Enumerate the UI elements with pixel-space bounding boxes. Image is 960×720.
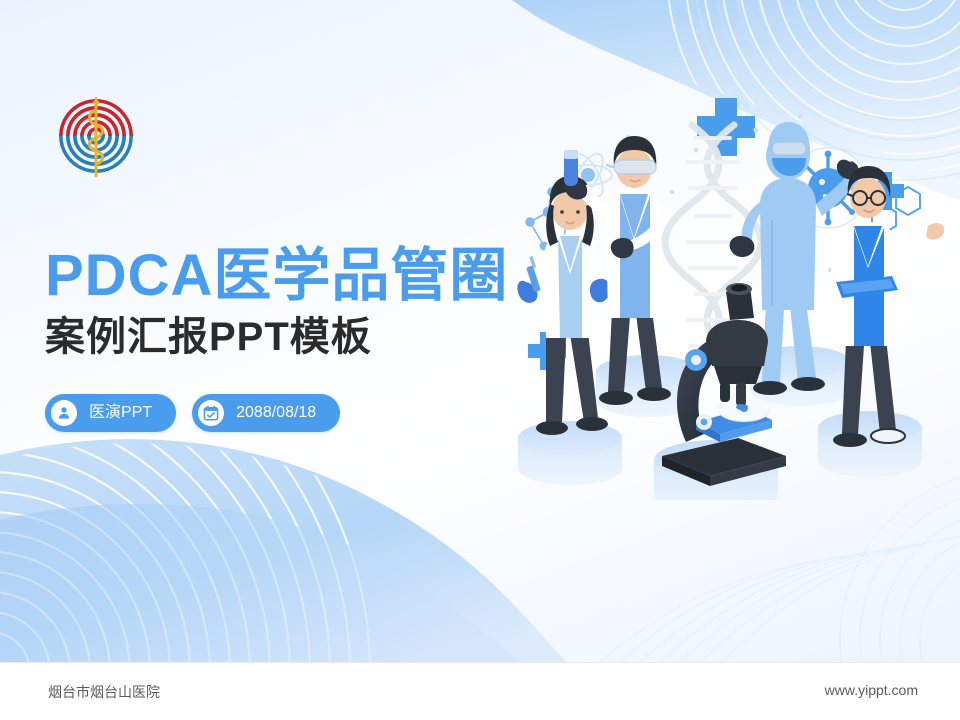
logo-serpent-head [93,100,99,106]
meta-row: 医演PPT 2088/08/18 [45,394,340,432]
bottom-right-streaks [600,537,960,662]
footer-website[interactable]: www.yippt.com [825,682,918,698]
medical-team-illustration [500,70,960,500]
goggles-icon [606,160,656,174]
test-tube-icon [564,150,578,186]
user-icon [51,400,77,426]
author-badge[interactable]: 医演PPT [45,394,176,432]
calendar-icon [198,400,224,426]
presentation-slide: PDCA医学品管圈 案例汇报PPT模板 医演PPT [0,0,960,720]
page-title: PDCA医学品管圈 [45,243,508,309]
date-badge[interactable]: 2088/08/18 [192,394,340,432]
date-label: 2088/08/18 [234,404,316,422]
pedestal [518,421,622,485]
footer-organization: 烟台市烟台山医院 [48,682,160,702]
hospital-logo [52,92,140,180]
bottom-left-wave-secondary [0,504,520,662]
author-label: 医演PPT [87,404,152,422]
pedestal [818,411,922,477]
page-subtitle: 案例汇报PPT模板 [45,312,372,362]
slide-footer: 烟台市烟台山医院 www.yippt.com [0,662,960,720]
